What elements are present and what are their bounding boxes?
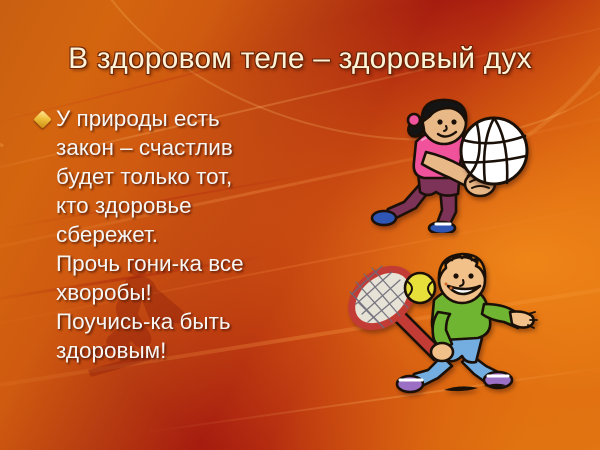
slide-title: В здоровом теле – здоровый дух [0,42,600,76]
text-line: закон – счастлив [56,133,244,162]
volleyball-icon [455,112,533,190]
diamond-bullet-icon [33,110,51,128]
text-line: хворобы! [56,278,244,307]
text-line: здоровым! [56,336,244,365]
text-line: кто здоровье [56,191,244,220]
text-line: будет только тот, [56,162,244,191]
presentation-slide: В здоровом теле – здоровый дух У природы… [0,0,600,450]
text-line: У природы есть [56,104,244,133]
text-line: Прочь гони-ка все [56,249,244,278]
bullet-text-block: У природы есть закон – счастлив будет то… [36,104,326,365]
tennis-boy-illustration [338,250,538,400]
text-line: Поучись-ка быть [56,307,244,336]
text-line: сбережет. [56,220,244,249]
bullet-text-lines: У природы есть закон – счастлив будет то… [56,104,244,365]
